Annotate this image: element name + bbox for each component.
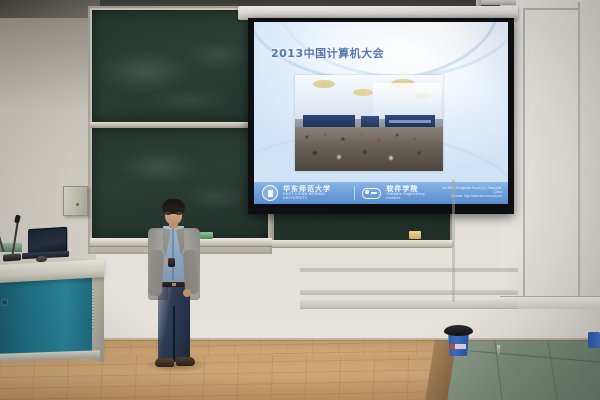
software-institute-logo-icon — [362, 188, 381, 199]
back-wall-trim — [300, 268, 518, 272]
second-bucket[interactable] — [588, 332, 600, 348]
eyeglasses-icon — [165, 211, 182, 215]
institute-name-block: 软件学院 Software Engineering Institute — [386, 186, 437, 201]
projector-glare — [374, 22, 494, 56]
back-wall-baseboard — [300, 300, 518, 309]
presentation-remote-icon[interactable] — [168, 258, 175, 267]
photo-ceiling-lamp — [353, 89, 373, 96]
presenter-shoe-left — [155, 358, 174, 367]
wall-seam — [452, 180, 455, 302]
lecture-hall-photo: 2013中国计算机大会 华东师范大学 EAST CHINA NORMAL UNI… — [0, 0, 600, 400]
projector-screen-surface: 2013中国计算机大会 华东师范大学 EAST CHINA NORMAL UNI… — [254, 22, 508, 204]
institute-name-en: Software Engineering Institute — [386, 193, 437, 201]
photo-hall-window — [373, 83, 441, 117]
university-seal-icon — [262, 185, 278, 201]
presenter-shirt-placket — [172, 228, 174, 280]
blackboard-right-rail — [272, 240, 454, 247]
university-name-en: EAST CHINA NORMAL UNIVERSITY — [283, 193, 347, 201]
right-wall-panel-frame-secondary — [578, 2, 600, 302]
chalk-eraser-icon — [409, 231, 421, 239]
footer-address-line2: Website: http://www.sei.ecnu.edu.cn — [437, 195, 502, 199]
photo-hall-ceiling — [295, 75, 443, 119]
photo-stage-banner — [389, 120, 431, 123]
back-wall-trim-lower — [300, 290, 518, 295]
slide-title: 2013中国计算机大会 — [271, 45, 384, 61]
bucket-label — [450, 344, 466, 349]
photo-ceiling-lamp — [313, 80, 335, 88]
chalk-box-icon — [200, 232, 213, 239]
wall-electrical-box[interactable] — [63, 186, 88, 216]
presenter-arm-right — [183, 250, 199, 295]
microphone-base — [3, 253, 21, 261]
presenter-hand-right — [183, 289, 191, 297]
bucket-trash-bag — [444, 325, 473, 336]
footer-divider — [354, 186, 355, 200]
presenter-trouser-seam — [173, 306, 175, 362]
slide-conference-photo — [295, 75, 443, 171]
presenter-shoe-right — [176, 357, 195, 366]
slide-footer-bar: 华东师范大学 EAST CHINA NORMAL UNIVERSITY 软件学院… — [254, 182, 508, 204]
presenter-arm-left — [148, 250, 164, 297]
university-name-block: 华东师范大学 EAST CHINA NORMAL UNIVERSITY — [283, 186, 347, 201]
podium-lock-icon[interactable] — [2, 300, 7, 305]
floor-bolt-icon — [497, 345, 500, 355]
presenter-belt-buckle — [172, 283, 176, 286]
ceiling-conduit — [476, 0, 516, 5]
electrical-box-latch-icon[interactable] — [76, 203, 79, 206]
blackboard-upper-panel — [92, 10, 268, 122]
podium-body[interactable] — [0, 277, 92, 357]
footer-address-block: No.3663 Zhongshan Road (N.), Shanghai, C… — [437, 187, 502, 198]
wood-floor-foreground — [0, 355, 470, 400]
photo-stage-screen-mid — [361, 116, 379, 127]
photo-audience-crowd — [295, 127, 443, 171]
